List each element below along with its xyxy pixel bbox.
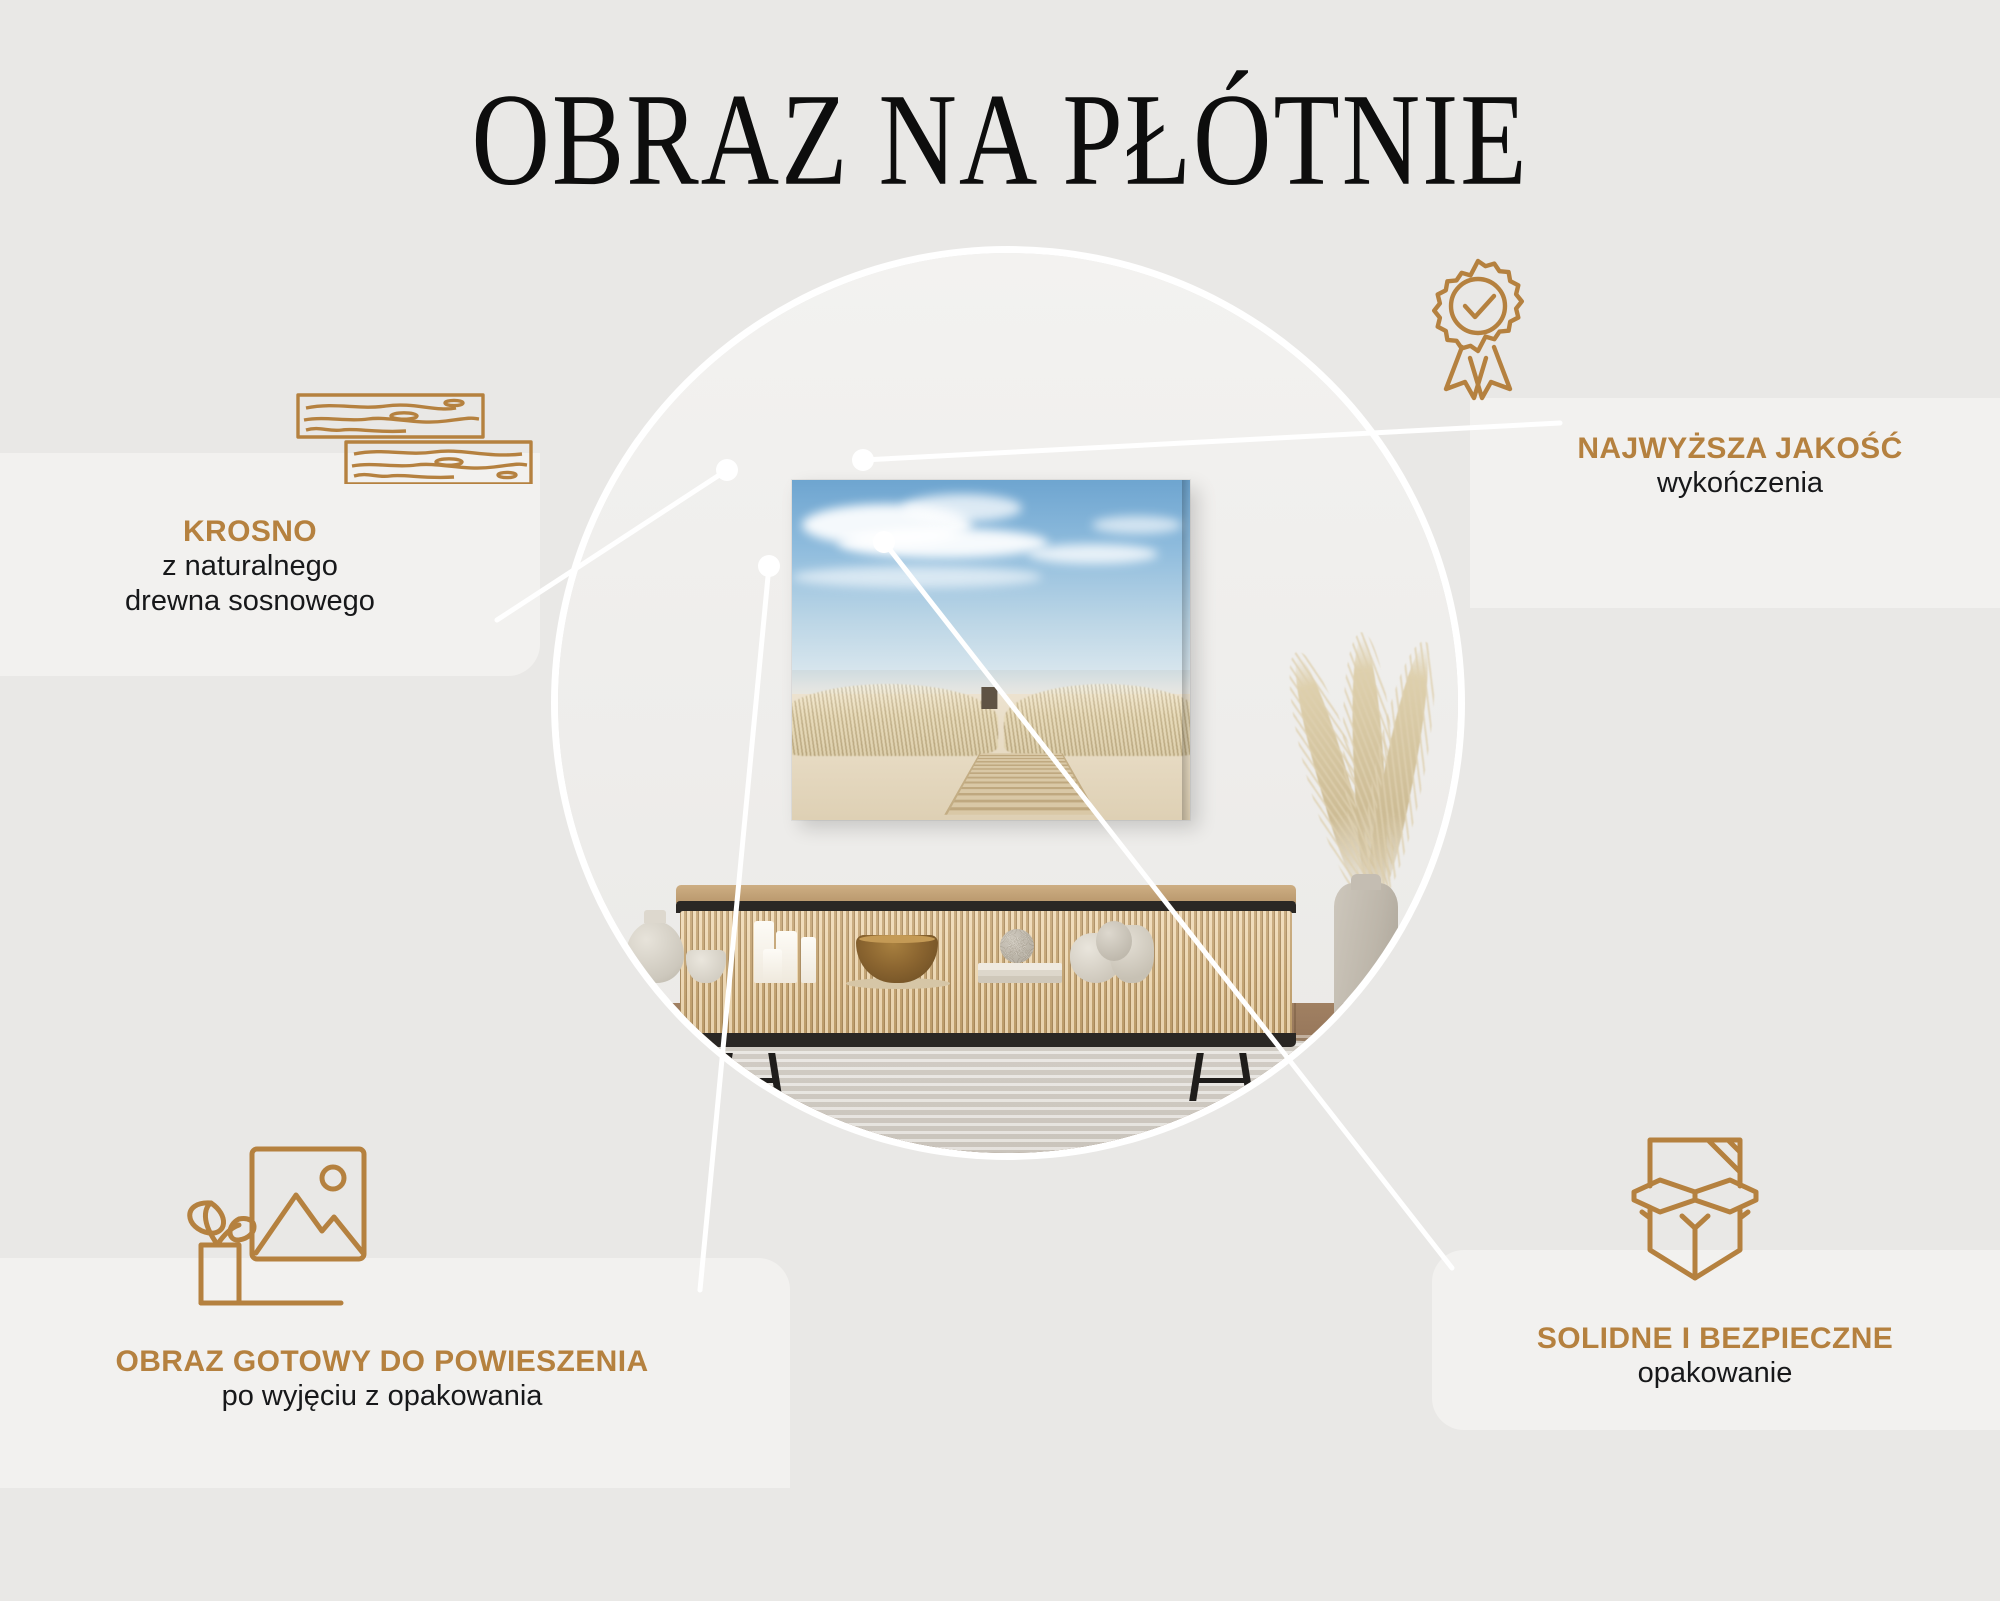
feature-subtitle-opakowanie: opakowanie bbox=[1470, 1356, 1960, 1391]
feature-title-powieszenie: OBRAZ GOTOWY DO POWIESZENIA bbox=[24, 1345, 740, 1379]
sideboard-rail bbox=[1193, 1078, 1250, 1083]
sideboard-base bbox=[676, 1033, 1296, 1047]
feature-text-jakosc: NAJWYŻSZA JAKOŚĆ wykończenia bbox=[1520, 432, 1960, 501]
stone-sphere bbox=[1000, 929, 1034, 963]
cloud-icon bbox=[838, 528, 1048, 558]
feature-subtitle-jakosc: wykończenia bbox=[1520, 466, 1960, 501]
feature-title-krosno: KROSNO bbox=[0, 515, 500, 549]
feature-text-krosno: KROSNO z naturalnego drewna sosnowego bbox=[0, 515, 500, 620]
feature-title-opakowanie: SOLIDNE I BEZPIECZNE bbox=[1470, 1322, 1960, 1356]
round-ceramic-vase bbox=[626, 921, 684, 983]
canvas-artwork bbox=[792, 480, 1190, 820]
tall-floor-vase bbox=[1334, 883, 1398, 1053]
dune-grass-right bbox=[1004, 684, 1190, 756]
feature-title-jakosc: NAJWYŻSZA JAKOŚĆ bbox=[1520, 432, 1960, 466]
pillar-candle bbox=[801, 937, 816, 983]
room-background bbox=[558, 253, 1458, 1153]
ceramic-vase bbox=[1096, 921, 1132, 961]
feature-subtitle-krosno-line1: z naturalnego bbox=[0, 549, 500, 584]
dune-grass-left bbox=[792, 684, 998, 756]
cloud-icon bbox=[902, 494, 1022, 522]
feature-subtitle-krosno-line2: drewna sosnowego bbox=[0, 584, 500, 619]
cloud-icon bbox=[1028, 544, 1158, 564]
framed-picture-plant-icon bbox=[155, 1145, 385, 1321]
canvas-side-edge bbox=[1182, 480, 1190, 820]
quality-badge-icon bbox=[1418, 255, 1538, 405]
feature-text-powieszenie: OBRAZ GOTOWY DO POWIESZENIA po wyjęciu z… bbox=[24, 1345, 740, 1414]
sideboard-rail bbox=[722, 1078, 779, 1083]
feature-text-opakowanie: SOLIDNE I BEZPIECZNE opakowanie bbox=[1470, 1322, 1960, 1391]
fence-post bbox=[981, 687, 997, 709]
feature-card-jakosc bbox=[1470, 398, 2000, 608]
pillar-candle bbox=[763, 949, 782, 983]
artwork-sky bbox=[792, 480, 1190, 677]
feature-subtitle-powieszenie: po wyjęciu z opakowania bbox=[24, 1379, 740, 1414]
stacked-books bbox=[978, 963, 1062, 983]
product-scene-circle bbox=[558, 253, 1458, 1153]
page-title: OBRAZ NA PŁÓTNIE bbox=[30, 74, 1970, 206]
open-box-icon bbox=[1620, 1130, 1770, 1290]
cloud-icon bbox=[792, 566, 1042, 588]
wood-planks-icon bbox=[296, 392, 536, 484]
cloud-icon bbox=[1092, 516, 1182, 534]
